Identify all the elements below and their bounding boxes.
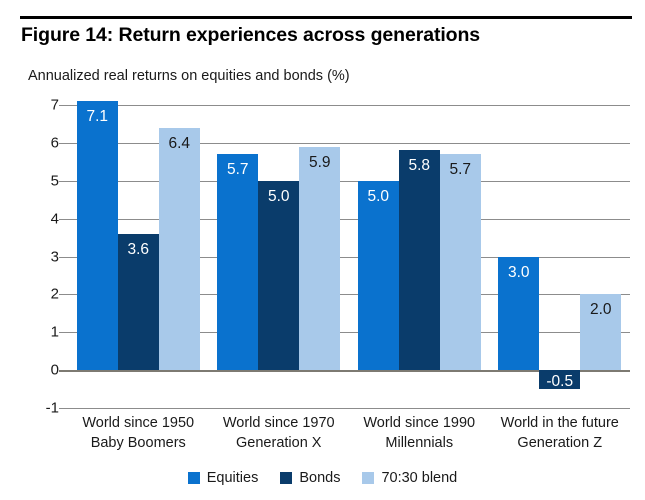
bar-value-label: 5.7 <box>440 162 481 178</box>
legend-item-equities[interactable]: Equities <box>188 470 259 486</box>
y-axis-tick-label: 6 <box>13 134 59 151</box>
bar-70-30-blend-2[interactable]: 5.9 <box>299 147 340 370</box>
bar-value-label: 6.4 <box>159 136 200 152</box>
bar-equities-4[interactable]: 3.0 <box>498 257 539 371</box>
bar-equities-3[interactable]: 5.0 <box>358 181 399 370</box>
bar-value-label: 5.0 <box>358 189 399 205</box>
category-line-2: Baby Boomers <box>68 433 209 453</box>
bar-70-30-blend-4[interactable]: 2.0 <box>580 294 621 370</box>
legend-swatch-icon <box>280 472 292 484</box>
figure-subtitle: Annualized real returns on equities and … <box>28 68 628 84</box>
legend-item-70-30-blend[interactable]: 70:30 blend <box>362 470 457 486</box>
x-axis-category-label: World in the futureGeneration Z <box>490 413 631 453</box>
bar-value-label: 3.0 <box>498 265 539 281</box>
x-axis-category-labels: World since 1950Baby BoomersWorld since … <box>68 413 630 465</box>
y-axis-tick <box>59 257 68 258</box>
y-axis-tick-label: 4 <box>13 210 59 227</box>
y-axis-tick <box>59 408 68 409</box>
bar-bonds-3[interactable]: 5.8 <box>399 150 440 370</box>
bar-value-label: -0.5 <box>539 374 580 390</box>
category-line-2: Generation Z <box>490 433 631 453</box>
bar-bonds-1[interactable]: 3.6 <box>118 234 159 370</box>
legend-item-bonds[interactable]: Bonds <box>280 470 340 486</box>
bar-value-label: 5.0 <box>258 189 299 205</box>
bar-equities-1[interactable]: 7.1 <box>77 101 118 370</box>
y-axis-tick <box>59 181 68 182</box>
category-line-1: World in the future <box>501 415 619 431</box>
category-line-2: Generation X <box>209 433 350 453</box>
category-line-1: World since 1950 <box>82 415 194 431</box>
y-axis-tick-label: -1 <box>13 400 59 417</box>
legend-swatch-icon <box>362 472 374 484</box>
y-axis-tick-label: 2 <box>13 286 59 303</box>
bar-equities-2[interactable]: 5.7 <box>217 154 258 370</box>
y-axis-tick-label: 3 <box>13 248 59 265</box>
bar-70-30-blend-3[interactable]: 5.7 <box>440 154 481 370</box>
y-axis-tick <box>59 219 68 220</box>
chart-legend: EquitiesBonds70:30 blend <box>0 470 645 486</box>
x-axis-category-label: World since 1970Generation X <box>209 413 350 453</box>
header-rule <box>20 16 632 19</box>
bar-value-label: 2.0 <box>580 302 621 318</box>
bar-bonds-4[interactable]: -0.5 <box>539 370 580 389</box>
legend-swatch-icon <box>188 472 200 484</box>
y-axis: 76543210-1 <box>0 105 59 408</box>
category-line-1: World since 1970 <box>223 415 335 431</box>
x-axis-category-label: World since 1950Baby Boomers <box>68 413 209 453</box>
figure-title: Figure 14: Return experiences across gen… <box>21 24 631 47</box>
bars-layer: 7.13.66.45.75.05.95.05.85.73.0-0.52.0 <box>68 105 630 408</box>
y-axis-tick-label: 7 <box>13 97 59 114</box>
legend-label: Bonds <box>299 470 340 486</box>
y-axis-tick <box>59 143 68 144</box>
y-axis-tick <box>59 332 68 333</box>
bar-bonds-2[interactable]: 5.0 <box>258 181 299 370</box>
gridline <box>68 408 630 409</box>
legend-label: 70:30 blend <box>381 470 457 486</box>
bar-value-label: 7.1 <box>77 109 118 125</box>
bar-value-label: 5.7 <box>217 162 258 178</box>
category-line-1: World since 1990 <box>363 415 475 431</box>
bar-value-label: 5.9 <box>299 155 340 171</box>
plot-area: 7.13.66.45.75.05.95.05.85.73.0-0.52.0 <box>68 105 630 408</box>
y-axis-tick-label: 0 <box>13 362 59 379</box>
legend-label: Equities <box>207 470 259 486</box>
category-line-2: Millennials <box>349 433 490 453</box>
y-axis-tick <box>59 294 68 295</box>
y-axis-tick <box>59 370 68 372</box>
x-axis-category-label: World since 1990Millennials <box>349 413 490 453</box>
y-axis-tick-label: 5 <box>13 172 59 189</box>
bar-value-label: 3.6 <box>118 242 159 258</box>
bar-value-label: 5.8 <box>399 158 440 174</box>
y-axis-tick <box>59 105 68 106</box>
bar-70-30-blend-1[interactable]: 6.4 <box>159 128 200 370</box>
y-axis-tick-label: 1 <box>13 324 59 341</box>
figure-container: Figure 14: Return experiences across gen… <box>0 0 645 500</box>
